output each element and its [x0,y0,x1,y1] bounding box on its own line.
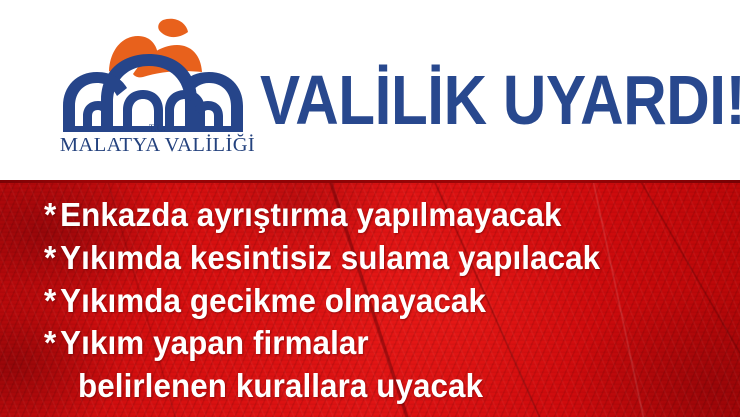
bullet-marker: * [44,198,60,232]
list-item-text: belirlenen kurallara uyacak [78,367,483,404]
bullet-list: *Enkazda ayrıştırma yapılmayacak *Yıkımd… [0,180,740,417]
logo-tc-label: T.C. [55,124,260,133]
bullet-marker: * [44,241,60,275]
list-item-text: Yıkım yapan firmalar [60,324,369,361]
bullet-marker: * [44,284,60,318]
list-item-text: Enkazda ayrıştırma yapılmayacak [60,196,561,233]
list-item-text: Yıkımda gecikme olmayacak [60,282,486,319]
news-poster: T.C. MALATYA VALİLİĞİ VALİLİK UYARDI! *E… [0,0,740,417]
malatya-valiligi-crest-icon [55,14,260,132]
list-item: *Yıkımda gecikme olmayacak [44,284,486,318]
page-title: VALİLİK UYARDI! [260,63,664,138]
list-item: *Yıkım yapan firmalar [44,326,369,360]
poster-header: T.C. MALATYA VALİLİĞİ VALİLİK UYARDI! [0,0,740,180]
logo-name-label: MALATYA VALİLİĞİ [55,134,260,158]
bullet-marker: * [44,326,60,360]
list-item-text: Yıkımda kesintisiz sulama yapılacak [60,239,600,276]
malatya-valiligi-logo: T.C. MALATYA VALİLİĞİ [55,14,260,166]
red-message-banner: *Enkazda ayrıştırma yapılmayacak *Yıkımd… [0,180,740,417]
list-item: *Enkazda ayrıştırma yapılmayacak [44,198,562,232]
list-item: *Yıkımda kesintisiz sulama yapılacak [44,241,600,275]
list-item: belirlenen kurallara uyacak [78,369,483,403]
